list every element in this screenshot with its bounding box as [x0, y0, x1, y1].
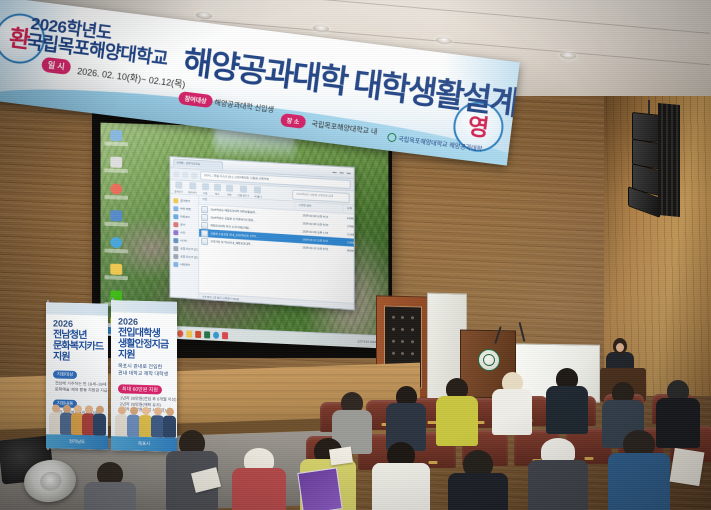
ribbon-button-cut[interactable]: 잘라내기 — [188, 182, 197, 194]
audience-member — [492, 372, 532, 435]
ribbon-button-new-folder[interactable]: 새 폴더 — [254, 186, 261, 198]
poster-title-line-3: 지원 — [118, 349, 177, 362]
poster-section-line: 문화예술·체육 활동 지원금 지급 — [55, 386, 108, 393]
poster-header-strip — [111, 300, 177, 314]
ribbon-button-copy[interactable]: 복사 — [214, 183, 221, 195]
desktop-icon-my-pc[interactable] — [103, 129, 129, 154]
handout-paper — [329, 447, 353, 466]
poster-section-chip: 지원대상 — [53, 370, 77, 379]
taskbar-icon-chrome[interactable] — [177, 330, 183, 337]
up-icon[interactable] — [191, 172, 197, 178]
audience-member — [436, 378, 478, 446]
forward-icon[interactable] — [182, 171, 188, 177]
audience-member — [448, 450, 508, 510]
auditorium-photo: 선박용 · 공학기초자료 내 PC › 로컬 디스크 (D:) › 2026학년… — [0, 0, 711, 510]
poster-headline-line: 관내 대학교 재학 대학생 — [118, 370, 177, 379]
window-controls[interactable] — [333, 171, 351, 173]
taskbar-icon-excel[interactable] — [204, 331, 210, 338]
audience-member — [84, 462, 136, 510]
desktop-icon-recycle-bin[interactable] — [103, 155, 129, 180]
sidebar-item-network[interactable]: 네트워크 — [173, 260, 198, 270]
desktop-icon-edge[interactable] — [103, 236, 129, 261]
ribbon-button-rename[interactable]: 이름 바꾸기 — [238, 185, 250, 198]
poster-title-line-3: 지원 — [53, 351, 108, 363]
event-flyer — [297, 467, 342, 510]
handout-paper — [670, 448, 705, 486]
poster-year: 2026 — [118, 316, 177, 328]
back-icon[interactable] — [173, 171, 179, 177]
minimize-icon[interactable] — [333, 171, 337, 172]
university-emblem-icon — [478, 349, 500, 371]
taskbar-icon-edge[interactable] — [213, 331, 219, 338]
ribbon-button-paste[interactable]: 붙여넣기 — [174, 181, 183, 193]
explorer-body: 즐겨찾기 바탕 화면 다운로드 문서 사진 내 PC 로컬 디스크 (C:) 로… — [170, 194, 353, 310]
poster-illustration-people — [46, 394, 108, 436]
poster-highlight-badge: 최대 60만원 지원 — [118, 384, 162, 394]
file-explorer-window[interactable]: 선박용 · 공학기초자료 내 PC › 로컬 디스크 (D:) › 2026학년… — [169, 156, 354, 310]
audience-member-with-cap — [528, 438, 588, 510]
explorer-search-input[interactable]: 2026학년도 신입생 교육자료 검색 — [292, 189, 350, 203]
file-list[interactable]: 이름 수정한 날짜 유형 크기 2026학년도 해양공과대학 대학생활설계...… — [200, 196, 355, 310]
explorer-sidebar[interactable]: 즐겨찾기 바탕 화면 다운로드 문서 사진 내 PC 로컬 디스크 (C:) 로… — [170, 194, 199, 301]
poster-year: 2026 — [53, 318, 108, 329]
ribbon-button-delete[interactable]: 삭제 — [226, 184, 233, 196]
audience-member — [372, 442, 430, 510]
desktop-icon-hangul[interactable] — [103, 209, 129, 234]
poster-header-strip — [46, 302, 108, 316]
taskbar-icon-alyac[interactable] — [222, 332, 228, 339]
audience-member — [546, 368, 588, 434]
explorer-tab[interactable]: 선박용 · 공학기초자료 — [173, 158, 223, 169]
speaker-rigging-rod — [648, 100, 650, 114]
desktop-icon-chrome[interactable] — [103, 182, 129, 207]
close-icon[interactable] — [347, 172, 351, 173]
desktop-icon-alzip[interactable] — [103, 262, 129, 287]
audience-member — [608, 430, 670, 510]
taskbar-icon-explorer[interactable] — [186, 330, 192, 337]
ribbon-button-move[interactable]: 이동 — [202, 182, 209, 194]
poster-banner-1: 2026 전남청년 문화복지카드 지원 지원대상 전남에 거주하는 만 18세~… — [46, 302, 108, 450]
maximize-icon[interactable] — [340, 172, 344, 173]
taskbar-icon-powerpoint[interactable] — [195, 330, 201, 337]
wall-acoustic-fins — [658, 103, 680, 217]
presenter-face — [616, 343, 624, 352]
audience-member-with-cap — [232, 448, 286, 510]
poster-footer: 전라남도 — [46, 434, 108, 450]
